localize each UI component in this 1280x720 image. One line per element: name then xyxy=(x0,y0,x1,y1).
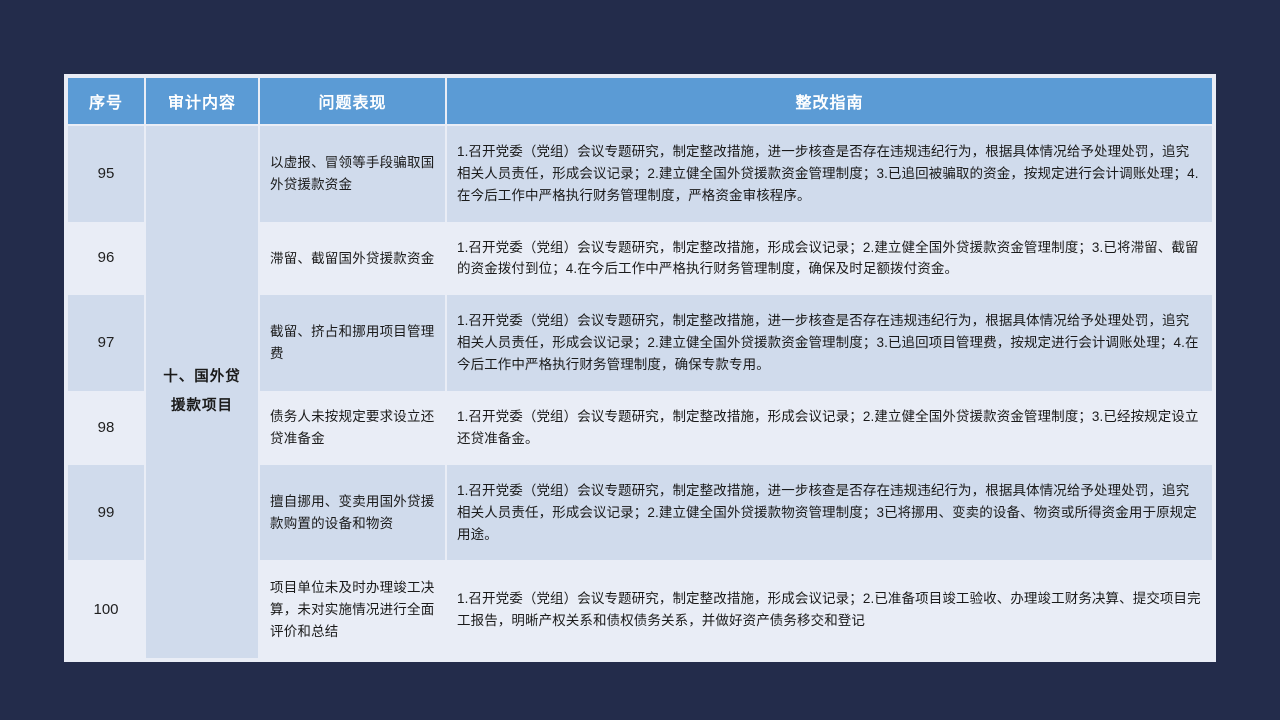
cell-problem: 以虚报、冒领等手段骗取国外贷援款资金 xyxy=(260,126,445,222)
table-body: 95 十、国外贷援款项目 以虚报、冒领等手段骗取国外贷援款资金 1.召开党委（党… xyxy=(68,126,1212,658)
cell-audit-group: 十、国外贷援款项目 xyxy=(146,126,258,658)
table-header: 序号 审计内容 问题表现 整改指南 xyxy=(68,78,1212,124)
table-row: 95 十、国外贷援款项目 以虚报、冒领等手段骗取国外贷援款资金 1.召开党委（党… xyxy=(68,126,1212,222)
slide-canvas: 序号 审计内容 问题表现 整改指南 95 十、国外贷援款项目 以虚报、冒领等手段… xyxy=(0,0,1280,720)
cell-guide: 1.召开党委（党组）会议专题研究，制定整改措施，形成会议记录；2.已准备项目竣工… xyxy=(447,562,1212,658)
cell-seq: 98 xyxy=(68,393,144,463)
column-header-seq: 序号 xyxy=(68,78,144,124)
cell-seq: 97 xyxy=(68,295,144,391)
cell-guide: 1.召开党委（党组）会议专题研究，制定整改措施，形成会议记录；2.建立健全国外贷… xyxy=(447,224,1212,294)
cell-guide: 1.召开党委（党组）会议专题研究，制定整改措施，形成会议记录；2.建立健全国外贷… xyxy=(447,393,1212,463)
cell-seq: 95 xyxy=(68,126,144,222)
cell-guide: 1.召开党委（党组）会议专题研究，制定整改措施，进一步核查是否存在违规违纪行为，… xyxy=(447,295,1212,391)
cell-guide: 1.召开党委（党组）会议专题研究，制定整改措施，进一步核查是否存在违规违纪行为，… xyxy=(447,465,1212,561)
audit-rectification-table: 序号 审计内容 问题表现 整改指南 95 十、国外贷援款项目 以虚报、冒领等手段… xyxy=(66,76,1214,660)
cell-seq: 100 xyxy=(68,562,144,658)
column-header-guide: 整改指南 xyxy=(447,78,1212,124)
cell-guide: 1.召开党委（党组）会议专题研究，制定整改措施，进一步核查是否存在违规违纪行为，… xyxy=(447,126,1212,222)
cell-problem: 擅自挪用、变卖用国外贷援款购置的设备和物资 xyxy=(260,465,445,561)
column-header-audit: 审计内容 xyxy=(146,78,258,124)
column-header-problem: 问题表现 xyxy=(260,78,445,124)
cell-problem: 滞留、截留国外贷援款资金 xyxy=(260,224,445,294)
table-header-row: 序号 审计内容 问题表现 整改指南 xyxy=(68,78,1212,124)
audit-rectification-table-frame: 序号 审计内容 问题表现 整改指南 95 十、国外贷援款项目 以虚报、冒领等手段… xyxy=(64,74,1216,662)
cell-problem: 债务人未按规定要求设立还贷准备金 xyxy=(260,393,445,463)
cell-problem: 截留、挤占和挪用项目管理费 xyxy=(260,295,445,391)
cell-problem: 项目单位未及时办理竣工决算，未对实施情况进行全面评价和总结 xyxy=(260,562,445,658)
cell-seq: 96 xyxy=(68,224,144,294)
cell-seq: 99 xyxy=(68,465,144,561)
